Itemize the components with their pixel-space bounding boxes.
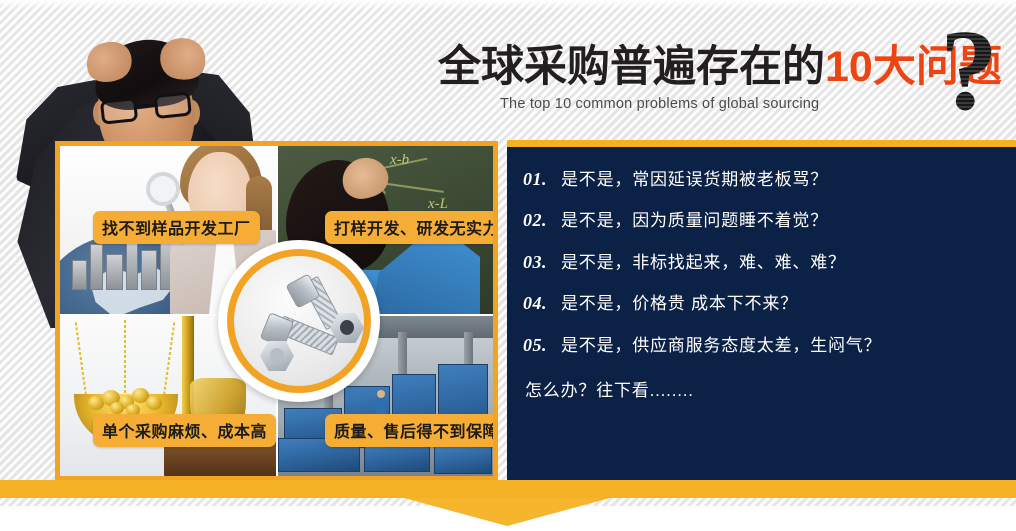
right-lens — [154, 91, 192, 119]
list-item-number: 03. — [523, 252, 561, 273]
title-subtitle: The top 10 common problems of global sou… — [500, 96, 998, 112]
scroll-down-chevron-icon — [404, 498, 610, 526]
title-main-line: 全球采购普遍存在的10大问题 — [438, 46, 998, 89]
list-item: 05. 是不是，供应商服务态度太差，生闷气？ — [523, 335, 1006, 356]
panel-top-accent-bar — [507, 140, 1016, 147]
page-title: 全球采购普遍存在的10大问题 The top 10 common problem… — [438, 46, 998, 112]
banner-root: 全球采购普遍存在的10大问题 The top 10 common problem… — [0, 0, 1016, 531]
list-item-number: 04. — [523, 293, 561, 314]
list-item-text: 是不是，因为质量问题睡不着觉？ — [561, 211, 1006, 231]
title-prefix: 全球采购普遍存在的 — [438, 43, 825, 91]
factory-worker-head — [377, 390, 385, 398]
bolts-circle-badge — [218, 240, 380, 402]
collage-label-single-purchase-cost: 单个采购麻烦、成本高 — [93, 414, 276, 447]
list-item-number: 05. — [523, 335, 561, 356]
collage-label-no-sample-factory: 找不到样品开发工厂 — [93, 211, 260, 244]
list-item: 02. 是不是，因为质量问题睡不着觉？ — [523, 210, 1006, 231]
list-item: 03. 是不是，非标找起来，难、难、难？ — [523, 252, 1006, 273]
hex-nut-right-hole — [340, 320, 354, 335]
collage-label-no-quality-warranty: 质量、售后得不到保障 — [325, 414, 498, 447]
problems-panel: 01. 是不是，常因延误货期被老板骂？ 02. 是不是，因为质量问题睡不着觉？ … — [507, 147, 1016, 480]
list-item-text: 是不是，供应商服务态度太差，生闷气？ — [561, 336, 1006, 356]
list-item-text: 是不是，常因延误货期被老板骂？ — [561, 170, 1006, 190]
list-item: 01. 是不是，常因延误货期被老板骂？ — [523, 169, 1006, 190]
list-item-number: 01. — [523, 169, 561, 190]
problems-list: 01. 是不是，常因延误货期被老板骂？ 02. 是不是，因为质量问题睡不着觉？ … — [523, 169, 1006, 401]
left-lens — [100, 97, 138, 125]
list-item-text: 是不是，非标找起来，难、难、难？ — [561, 253, 1006, 273]
magnifier-icon — [146, 172, 180, 206]
list-item-number: 02. — [523, 210, 561, 231]
problems-footer-text: 怎么办？往下看........ — [525, 376, 1006, 401]
hex-nut-left-hole — [270, 348, 284, 363]
list-item: 04. 是不是，价格贵 成本下不来？ — [523, 293, 1006, 314]
list-item-text: 是不是，价格贵 成本下不来？ — [561, 294, 1006, 314]
bottom-accent-bar — [0, 480, 1016, 498]
question-mark-icon: ? — [940, 22, 1010, 132]
gold-nuggets — [86, 386, 166, 412]
circle-orange-ring — [227, 249, 371, 393]
glasses-bridge — [137, 103, 155, 108]
question-mark-glyph: ? — [940, 22, 998, 122]
collage-label-weak-rd: 打样开发、研发无实力 — [325, 211, 498, 244]
